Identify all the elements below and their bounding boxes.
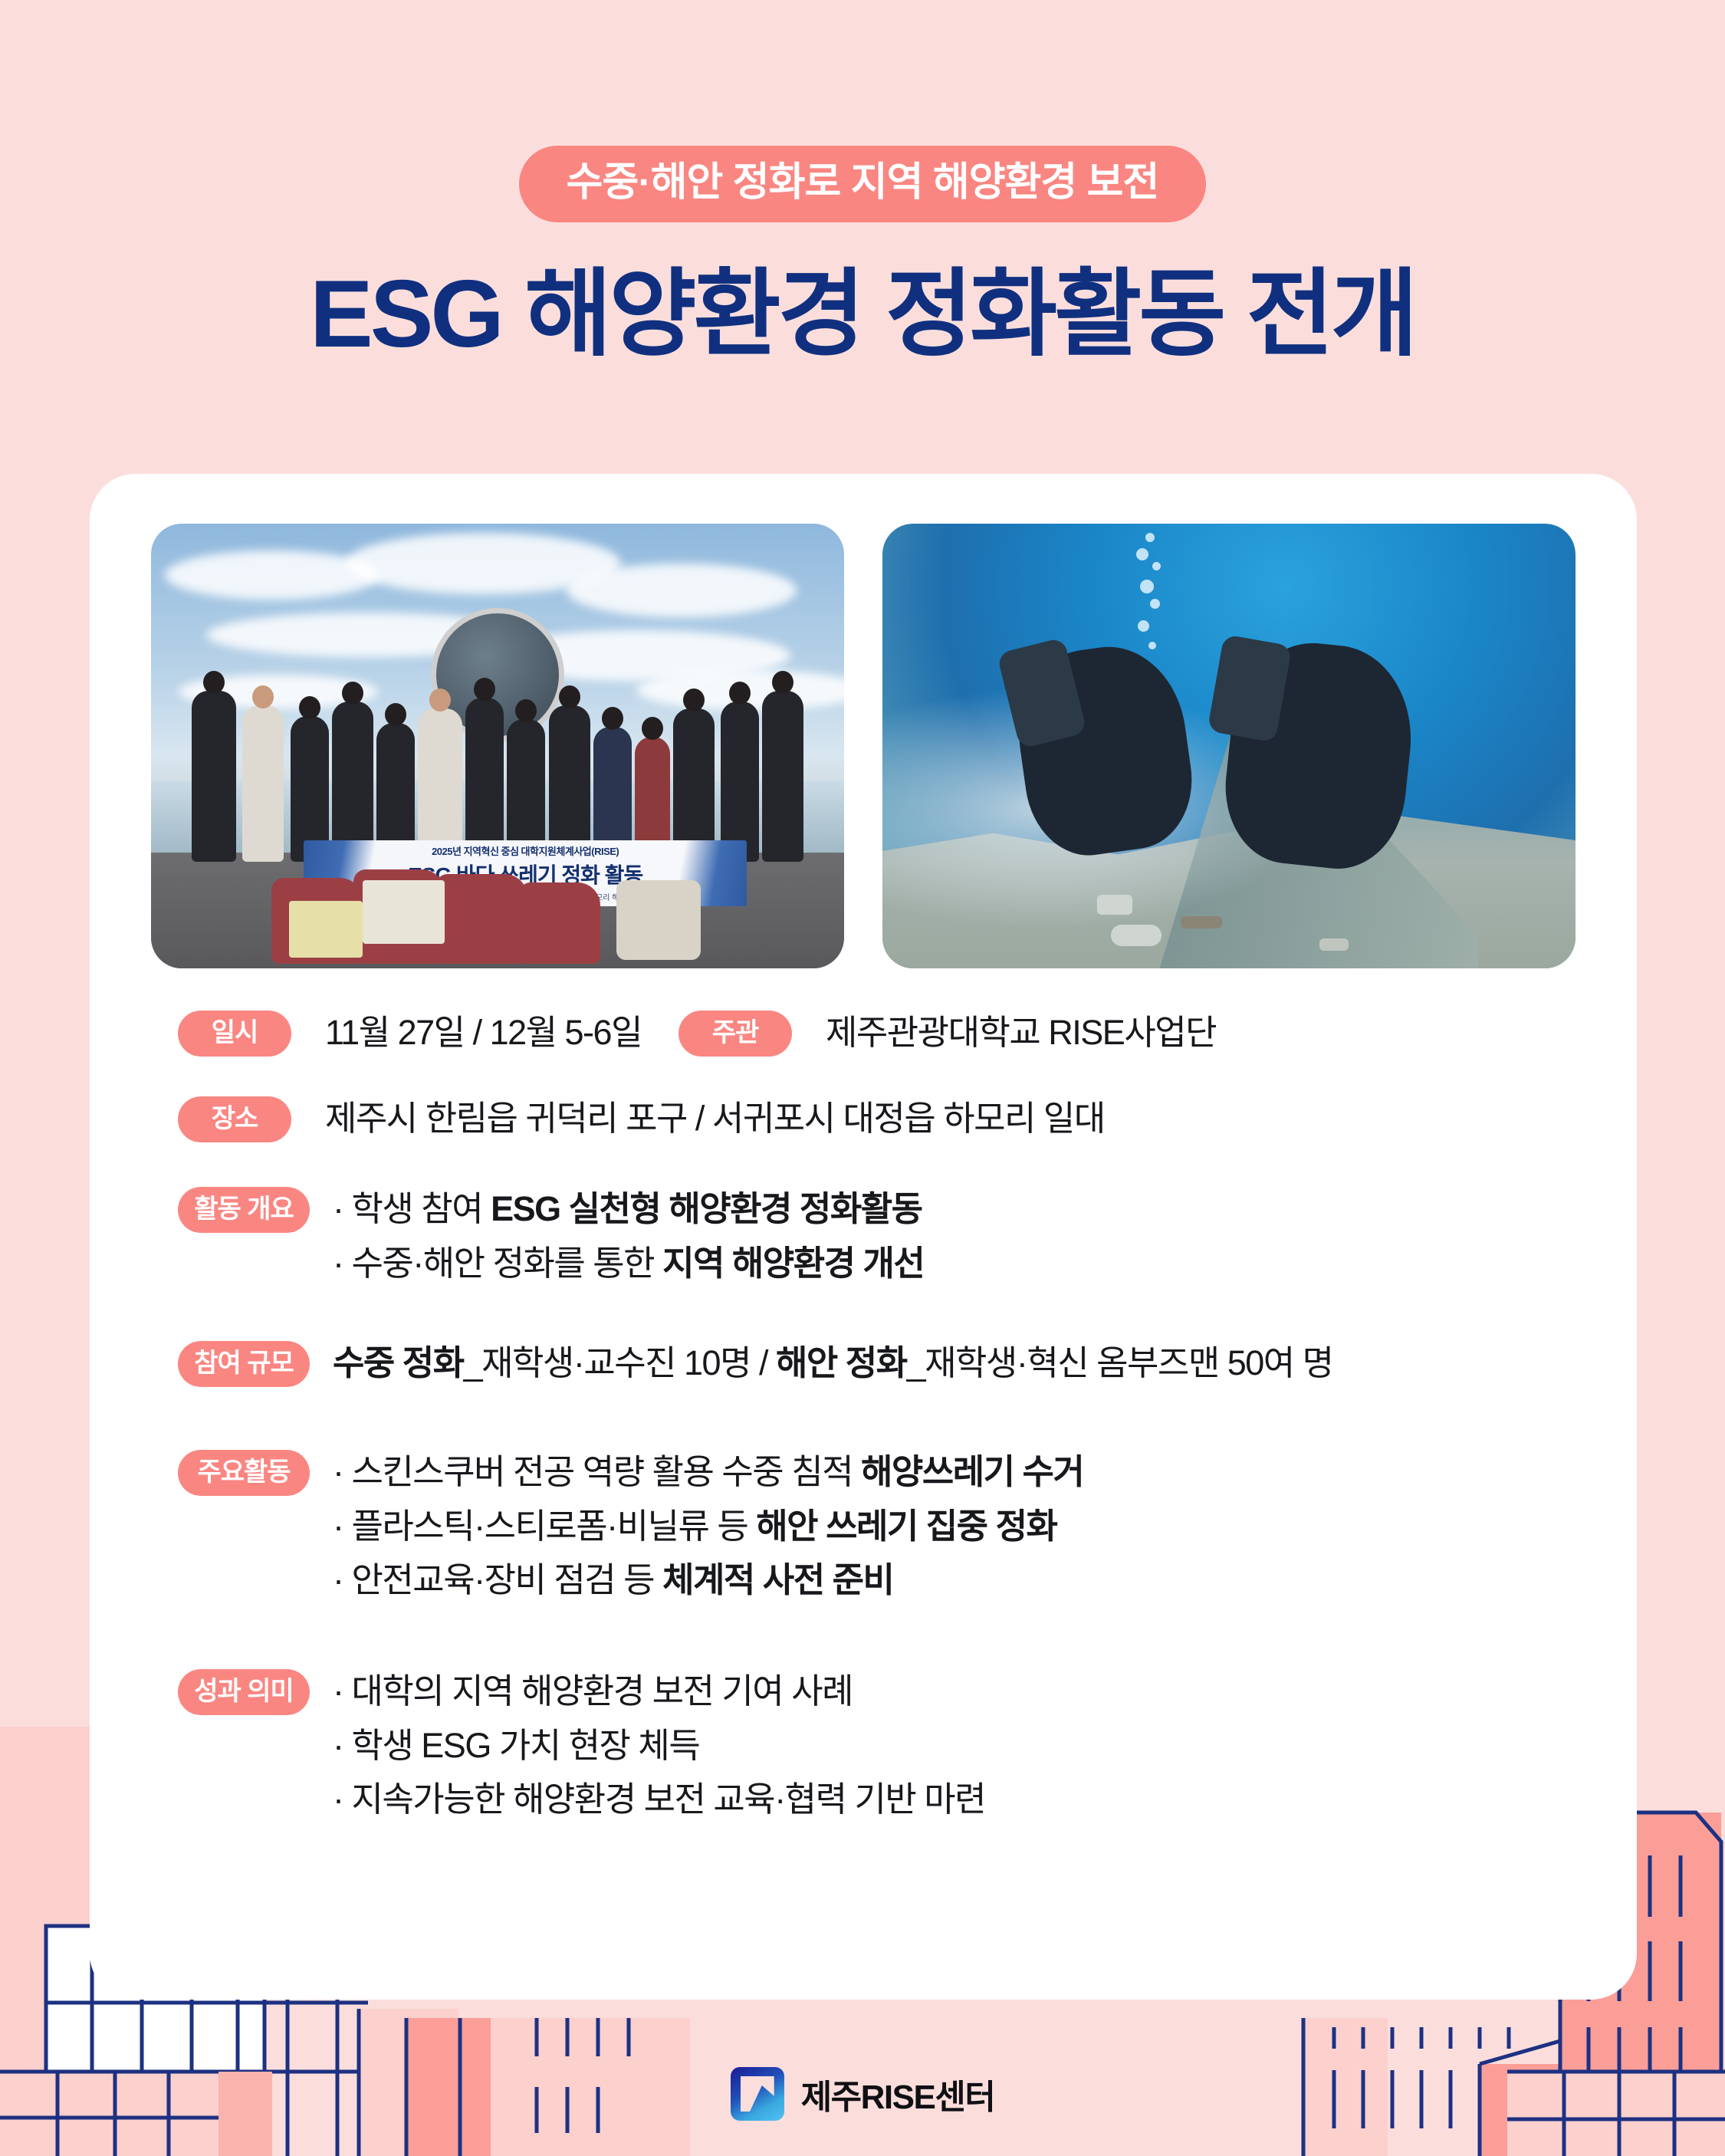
- tag-host: 주관: [678, 1011, 792, 1057]
- jeju-rise-center-logo-icon: [731, 2067, 784, 2121]
- list-item: · 학생 참여 ESG 실천형 해양환경 정화활동: [333, 1187, 924, 1231]
- info-row-activities: 주요활동 · 스킨스쿠버 전공 역량 활용 수중 침적 해양쓰레기 수거 · 플…: [90, 1450, 1637, 1612]
- activities-bullet-list: · 스킨스쿠버 전공 역량 활용 수중 침적 해양쓰레기 수거 · 플라스틱·스…: [333, 1450, 1083, 1612]
- eyebrow-badge: 수중·해안 정화로 지역 해양환경 보전: [519, 146, 1207, 222]
- tag-outcomes: 성과 의미: [178, 1669, 310, 1715]
- tag-date: 일시: [178, 1011, 291, 1057]
- overview-bullet-list: · 학생 참여 ESG 실천형 해양환경 정화활동 · 수중·해안 정화를 통한…: [333, 1187, 924, 1295]
- list-item: · 플라스틱·스티로폼·비닐류 등 해안 쓰레기 집중 정화: [333, 1504, 1083, 1549]
- info-row-location: 장소 제주시 한림읍 귀덕리 포구 / 서귀포시 대정읍 하모리 일대: [90, 1096, 1637, 1142]
- litter-debris: [1319, 938, 1349, 951]
- value-participants: 수중 정화_재학생·교수진 10명 / 해안 정화_재학생·혁신 옴부즈맨 50…: [333, 1341, 1333, 1385]
- tag-overview: 활동 개요: [178, 1187, 310, 1233]
- list-item: · 안전교육·장비 점검 등 체계적 사전 준비: [333, 1558, 1083, 1602]
- page-title: ESG 해양환경 정화활동 전개: [0, 267, 1725, 362]
- tag-participants: 참여 규모: [178, 1341, 310, 1387]
- outcomes-bullet-list: · 대학의 지역 해양환경 보전 기여 사례 · 학생 ESG 가치 현장 체득…: [333, 1669, 985, 1832]
- info-row-participants: 참여 규모 수중 정화_재학생·교수진 10명 / 해안 정화_재학생·혁신 옴…: [90, 1341, 1637, 1387]
- poster-header: 수중·해안 정화로 지역 해양환경 보전 ESG 해양환경 정화활동 전개: [0, 0, 1725, 362]
- list-item: · 스킨스쿠버 전공 역량 활용 수중 침적 해양쓰레기 수거: [333, 1450, 1083, 1494]
- litter-pipe: [1181, 916, 1222, 928]
- tag-location: 장소: [178, 1096, 291, 1142]
- logo-mountain-shape: [741, 2076, 774, 2112]
- collected-trash-pile: [262, 862, 720, 964]
- list-item: · 학생 ESG 가치 현장 체득: [333, 1724, 985, 1768]
- beach-cleanup-group-photo: 2025년 지역혁신 중심 대학지원체계사업(RISE) ESG 바다 쓰레기 …: [151, 524, 844, 968]
- list-item: · 대학의 지역 해양환경 보전 기여 사례: [333, 1669, 985, 1714]
- footer-logo-bar: 제주RISE센터: [0, 2067, 1725, 2121]
- fishing-net-bundle: [616, 880, 701, 960]
- underwater-diver-cleanup-photo: [882, 524, 1575, 968]
- logo-wordmark: 제주RISE센터: [801, 2069, 995, 2118]
- poster-root: { "theme": { "background": "#fbdedc", "n…: [0, 0, 1725, 2156]
- info-row-date: 일시 11월 27일 / 12월 5-6일 주관 제주관광대학교 RISE사업단: [90, 1011, 1637, 1057]
- content-card: 2025년 지역혁신 중심 대학지원체계사업(RISE) ESG 바다 쓰레기 …: [90, 474, 1637, 2000]
- litter-bottle: [1111, 925, 1161, 946]
- info-section: 일시 11월 27일 / 12월 5-6일 주관 제주관광대학교 RISE사업단…: [90, 1011, 1637, 1832]
- value-host: 제주관광대학교 RISE사업단: [826, 1011, 1216, 1055]
- value-location: 제주시 한림읍 귀덕리 포구 / 서귀포시 대정읍 하모리 일대: [325, 1096, 1105, 1141]
- list-item: · 지속가능한 해양환경 보전 교육·협력 기반 마련: [333, 1777, 985, 1822]
- litter-can: [1097, 895, 1132, 915]
- banner-line-1: 2025년 지역혁신 중심 대학지원체계사업(RISE): [432, 843, 619, 858]
- info-row-outcomes: 성과 의미 · 대학의 지역 해양환경 보전 기여 사례 · 학생 ESG 가치…: [90, 1669, 1637, 1832]
- info-row-overview: 활동 개요 · 학생 참여 ESG 실천형 해양환경 정화활동 · 수중·해안 …: [90, 1187, 1637, 1295]
- tag-activities: 주요활동: [178, 1450, 310, 1496]
- list-item: · 수중·해안 정화를 통한 지역 해양환경 개선: [333, 1241, 924, 1286]
- photo-gallery: 2025년 지역혁신 중심 대학지원체계사업(RISE) ESG 바다 쓰레기 …: [151, 524, 1575, 968]
- participant-group: [179, 684, 816, 862]
- value-date: 11월 27일 / 12월 5-6일: [325, 1011, 642, 1055]
